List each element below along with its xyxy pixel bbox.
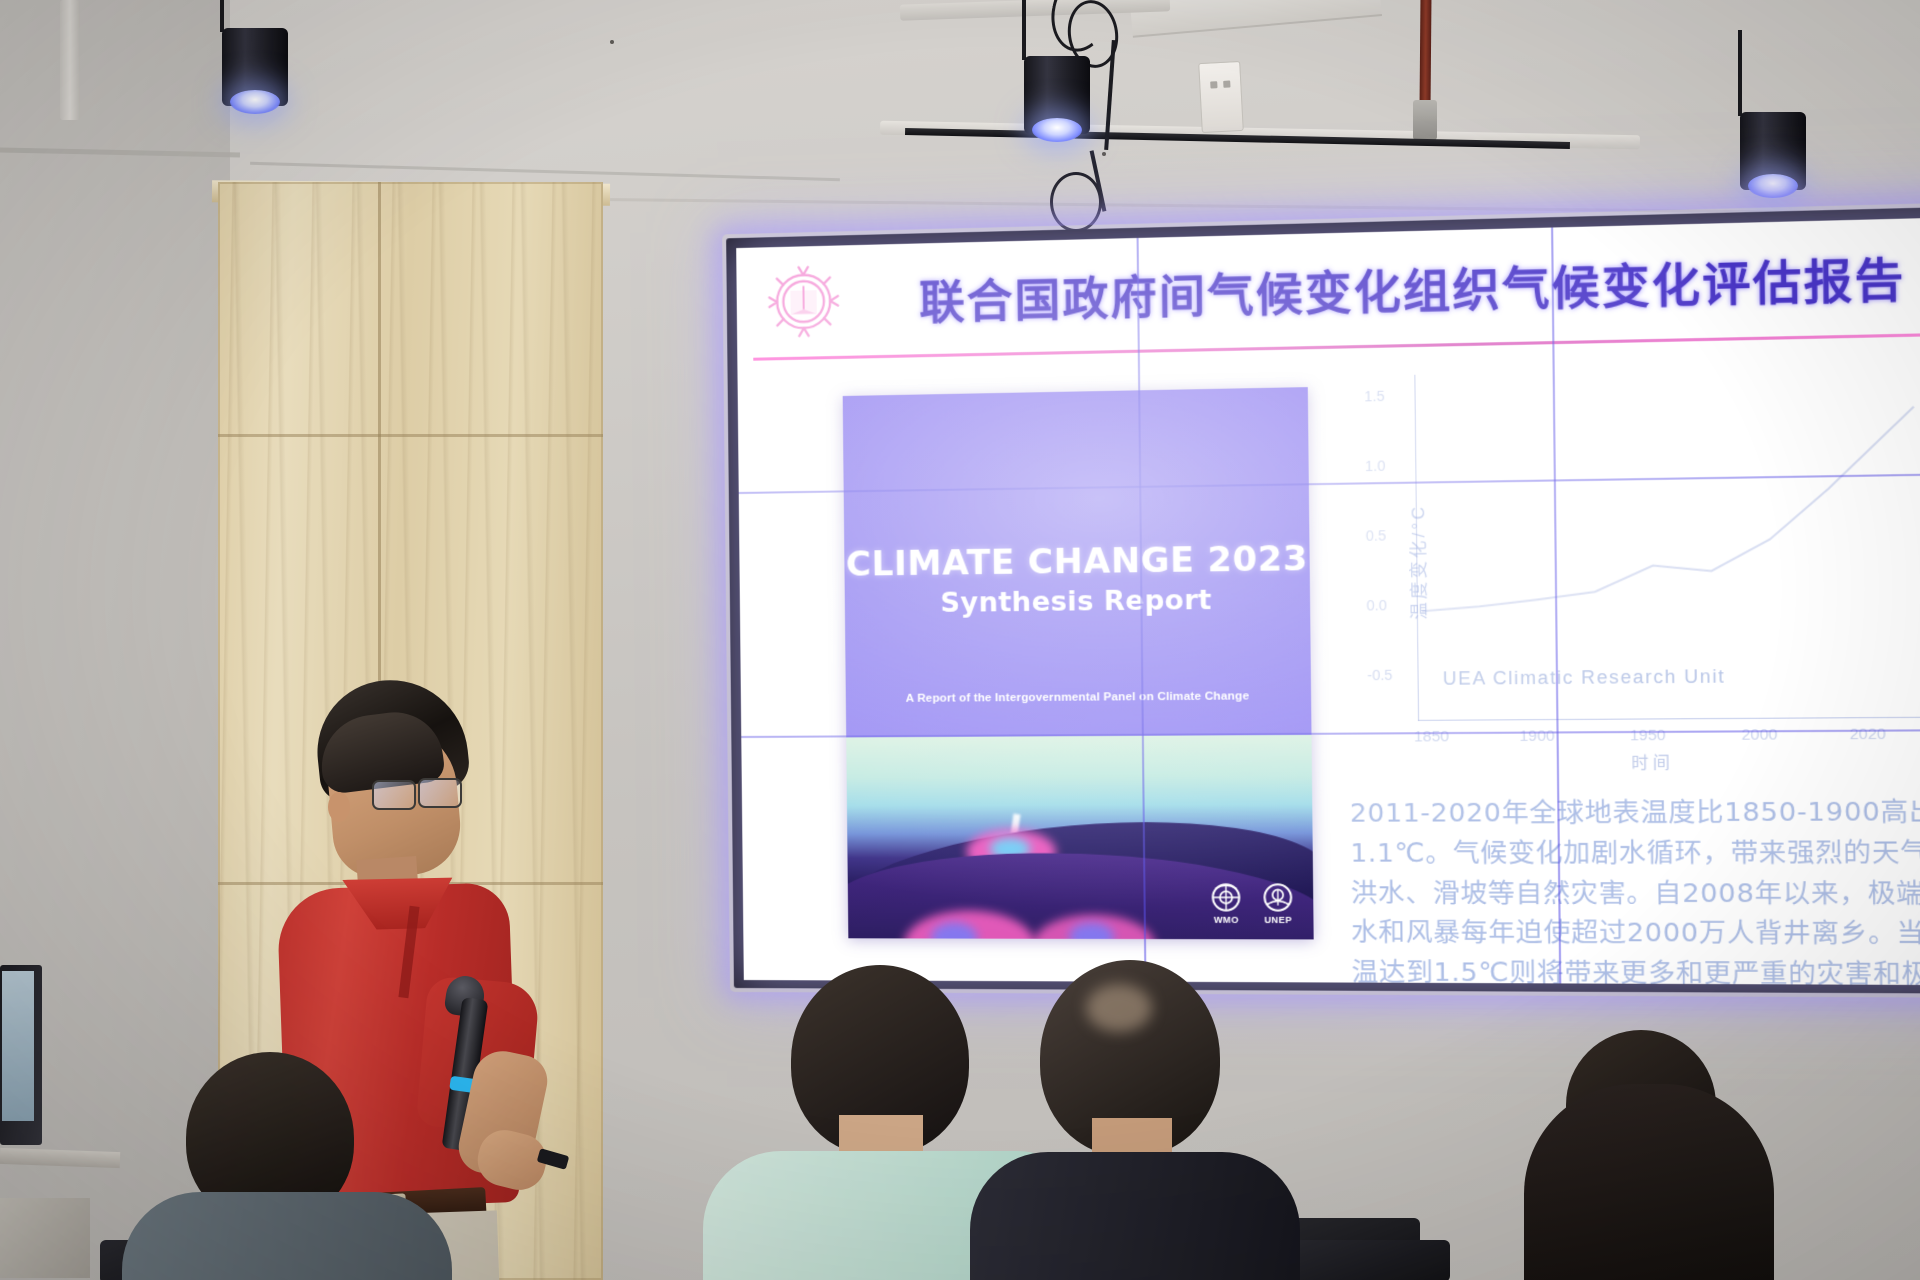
conduit-vertical-left bbox=[60, 0, 80, 120]
sprinkler-head bbox=[1413, 100, 1437, 140]
light-glow bbox=[1748, 174, 1798, 198]
cover-footer: A Report of the Intergovernmental Panel … bbox=[846, 690, 1311, 705]
chart-y-tick-4: -0.5 bbox=[1367, 667, 1392, 684]
audience-scalp-highlight bbox=[1086, 984, 1152, 1032]
cover-upper-panel: CLIMATE CHANGE 2023 Synthesis Report A R… bbox=[843, 387, 1312, 737]
audience-long-hair bbox=[1524, 1084, 1774, 1280]
temperature-chart: 温度变化/°C 1.5 1.0 0.5 0.0 -0.5 UEA Climati… bbox=[1349, 364, 1920, 781]
photo-scene: 联合国政府间气候变化组织气候变化评估报告 CLIMATE CHANGE 2023… bbox=[0, 0, 1920, 1280]
light-glow bbox=[230, 90, 280, 114]
chart-x-tick-0: 1850 bbox=[1414, 728, 1449, 746]
chart-y-tick-3: 0.0 bbox=[1366, 597, 1387, 614]
chart-y-tick-2: 0.5 bbox=[1366, 527, 1387, 544]
university-emblem-icon bbox=[764, 261, 843, 341]
cover-landscape-image: WMO UNEP bbox=[846, 735, 1313, 940]
light-glow bbox=[1032, 118, 1082, 142]
light-cord bbox=[220, 0, 224, 32]
chart-x-tick-4: 2020 bbox=[1850, 725, 1886, 743]
unep-logo-icon: UNEP bbox=[1257, 880, 1299, 929]
cover-title: CLIMATE CHANGE 2023 bbox=[844, 538, 1310, 584]
chart-x-tick-2: 1950 bbox=[1630, 727, 1666, 745]
cover-subtitle: Synthesis Report bbox=[845, 583, 1311, 619]
side-monitor-screen bbox=[2, 971, 34, 1121]
side-desk-lower bbox=[0, 1198, 90, 1278]
audience-torso bbox=[970, 1152, 1300, 1280]
cover-agency-logos: WMO UNEP bbox=[1205, 880, 1299, 929]
slide: 联合国政府间气候变化组织气候变化评估报告 CLIMATE CHANGE 2023… bbox=[736, 217, 1920, 985]
eyeglass-lens-right bbox=[418, 778, 462, 808]
unep-logo-label: UNEP bbox=[1264, 915, 1292, 925]
screen-surface[interactable]: 联合国政府间气候变化组织气候变化评估报告 CLIMATE CHANGE 2023… bbox=[736, 217, 1920, 985]
wall-speck bbox=[610, 40, 614, 44]
led-video-wall[interactable]: 联合国政府间气候变化组织气候变化评估报告 CLIMATE CHANGE 2023… bbox=[736, 217, 1920, 985]
audience-member-left bbox=[138, 1052, 468, 1280]
chart-x-axis-label: 时间 bbox=[1353, 747, 1920, 775]
chart-y-tick-1: 1.0 bbox=[1365, 457, 1386, 474]
light-cord bbox=[1022, 0, 1026, 60]
eyeglass-lens-left bbox=[372, 780, 416, 810]
side-monitor bbox=[0, 965, 42, 1145]
eyeglasses-icon bbox=[372, 780, 458, 808]
chart-x-tick-3: 2000 bbox=[1741, 726, 1777, 744]
wmo-logo-icon: WMO bbox=[1205, 880, 1247, 929]
audience-member-right bbox=[1480, 1030, 1810, 1280]
wmo-logo-label: WMO bbox=[1214, 915, 1239, 925]
chart-x-axis bbox=[1418, 717, 1920, 721]
slide-title: 联合国政府间气候变化组织气候变化评估报告 bbox=[864, 232, 1920, 341]
hanging-cable-loop-3 bbox=[1050, 172, 1102, 232]
wall-outlet bbox=[1198, 61, 1244, 133]
chart-series-line bbox=[1414, 364, 1920, 680]
ipcc-report-cover: CLIMATE CHANGE 2023 Synthesis Report A R… bbox=[843, 387, 1314, 939]
cabinet-seam-horizontal-1 bbox=[218, 434, 603, 437]
sprinkler-pipe bbox=[1420, 0, 1432, 105]
chart-source-label: UEA Climatic Research Unit bbox=[1443, 666, 1726, 690]
chart-x-tick-1: 1900 bbox=[1519, 727, 1555, 745]
wall-speck-2 bbox=[1102, 152, 1106, 156]
chart-y-tick-0: 1.5 bbox=[1364, 388, 1385, 405]
audience-torso bbox=[122, 1192, 452, 1280]
slide-caption: 2011-2020年全球地表温度比1850-1900高出1.1℃。气候变化加剧水… bbox=[1350, 792, 1920, 985]
light-cord bbox=[1738, 30, 1742, 116]
presenter-ear bbox=[328, 792, 350, 822]
audience-member-black bbox=[1000, 960, 1300, 1280]
